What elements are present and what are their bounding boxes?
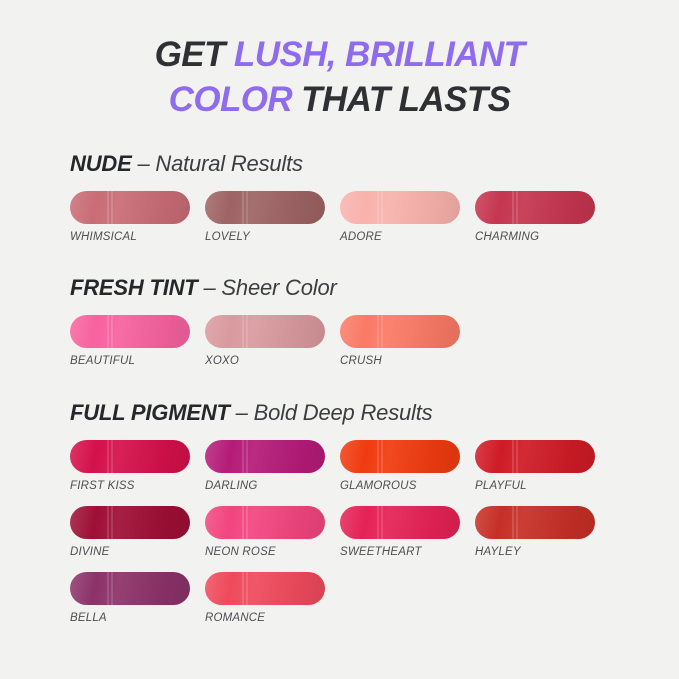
swatch-label: ROMANCE xyxy=(205,612,340,624)
headline-text-lush-brilliant: LUSH, BRILLIANT xyxy=(234,35,524,74)
swatch-item[interactable]: DARLING xyxy=(205,440,340,492)
swatch-label: DARLING xyxy=(205,480,340,492)
swatch-streak xyxy=(242,315,244,348)
swatch-color-crush[interactable] xyxy=(340,315,460,348)
swatch-label: WHIMSICAL xyxy=(70,231,205,243)
headline-text-get: GET xyxy=(155,35,234,74)
swatch-streak xyxy=(377,191,379,224)
swatch-sheen xyxy=(205,315,325,348)
swatch-streak xyxy=(111,191,113,224)
section-title-full-pigment: FULL PIGMENT – Bold Deep Results xyxy=(70,400,651,426)
swatch-color-charming[interactable] xyxy=(475,191,595,224)
swatch-item[interactable]: ADORE xyxy=(340,191,475,243)
swatch-label: CHARMING xyxy=(475,231,610,243)
swatch-sheen xyxy=(70,191,190,224)
swatch-label: DIVINE xyxy=(70,546,205,558)
swatch-streak xyxy=(242,191,244,224)
swatch-sheen xyxy=(70,440,190,473)
swatch-sheen xyxy=(205,506,325,539)
swatch-streak xyxy=(516,191,518,224)
swatch-label: BELLA xyxy=(70,612,205,624)
swatch-item[interactable]: LOVELY xyxy=(205,191,340,243)
swatch-streak xyxy=(377,440,379,473)
swatch-item[interactable]: BEAUTIFUL xyxy=(70,315,205,367)
section-fresh-tint: FRESH TINT – Sheer Color BEAUTIFUL XOXO … xyxy=(0,275,679,367)
section-title-light: – Bold Deep Results xyxy=(236,400,433,425)
swatch-color-whimsical[interactable] xyxy=(70,191,190,224)
swatch-sheen xyxy=(475,506,595,539)
section-full-pigment: FULL PIGMENT – Bold Deep Results FIRST K… xyxy=(0,400,679,624)
section-title-light: – Natural Results xyxy=(137,151,302,176)
swatch-sheen xyxy=(340,506,460,539)
swatch-grid-fresh-tint: BEAUTIFUL XOXO CRUSH xyxy=(70,301,615,367)
swatch-label: GLAMOROUS xyxy=(340,480,475,492)
swatch-item[interactable]: FIRST KISS xyxy=(70,440,205,492)
swatch-item[interactable]: GLAMOROUS xyxy=(340,440,475,492)
swatch-item[interactable]: CRUSH xyxy=(340,315,475,367)
swatch-color-lovely[interactable] xyxy=(205,191,325,224)
swatch-streak xyxy=(381,315,383,348)
swatch-sheen xyxy=(340,440,460,473)
swatch-color-bella[interactable] xyxy=(70,572,190,605)
swatch-streak xyxy=(516,440,518,473)
swatch-sheen xyxy=(205,440,325,473)
swatch-label: SWEETHEART xyxy=(340,546,475,558)
swatch-sheen xyxy=(475,440,595,473)
swatch-sheen xyxy=(475,191,595,224)
swatch-streak xyxy=(107,572,109,605)
swatch-streak xyxy=(246,191,248,224)
swatch-grid-full-pigment: FIRST KISS DARLING GLAMOROUS PLAYFUL DIV… xyxy=(70,426,615,624)
swatch-streak xyxy=(107,315,109,348)
swatch-streak xyxy=(242,440,244,473)
section-title-strong: FULL PIGMENT xyxy=(70,400,230,425)
swatch-grid-nude: WHIMSICAL LOVELY ADORE CHARMING xyxy=(70,177,615,243)
swatch-item[interactable]: WHIMSICAL xyxy=(70,191,205,243)
swatch-streak xyxy=(246,315,248,348)
swatch-label: LOVELY xyxy=(205,231,340,243)
swatch-color-divine[interactable] xyxy=(70,506,190,539)
swatch-item[interactable]: SWEETHEART xyxy=(340,506,475,558)
swatch-streak xyxy=(516,506,518,539)
swatch-item[interactable]: ROMANCE xyxy=(205,572,340,624)
swatch-color-xoxo[interactable] xyxy=(205,315,325,348)
swatch-streak xyxy=(512,506,514,539)
headline-line-1: GET LUSH, BRILLIANT xyxy=(0,33,679,78)
section-title-light: – Sheer Color xyxy=(203,275,336,300)
swatch-item[interactable]: CHARMING xyxy=(475,191,610,243)
swatch-label: ADORE xyxy=(340,231,475,243)
swatch-color-adore[interactable] xyxy=(340,191,460,224)
section-title-strong: NUDE xyxy=(70,151,132,176)
swatch-streak xyxy=(246,506,248,539)
swatch-color-hayley[interactable] xyxy=(475,506,595,539)
headline-line-2: COLOR THAT LASTS xyxy=(0,78,679,123)
swatch-streak xyxy=(512,191,514,224)
swatch-color-sweetheart[interactable] xyxy=(340,506,460,539)
swatch-streak xyxy=(246,572,248,605)
swatch-streak xyxy=(111,572,113,605)
section-title-fresh-tint: FRESH TINT – Sheer Color xyxy=(70,275,651,301)
section-nude: NUDE – Natural Results WHIMSICAL LOVELY … xyxy=(0,151,679,243)
swatch-label: XOXO xyxy=(205,355,340,367)
swatch-sheen xyxy=(70,315,190,348)
swatch-item[interactable]: HAYLEY xyxy=(475,506,610,558)
swatch-item[interactable]: PLAYFUL xyxy=(475,440,610,492)
swatch-sheen xyxy=(70,506,190,539)
swatch-streak xyxy=(242,506,244,539)
swatch-streak xyxy=(107,506,109,539)
swatch-streak xyxy=(381,191,383,224)
swatch-label: PLAYFUL xyxy=(475,480,610,492)
swatch-label: CRUSH xyxy=(340,355,475,367)
swatch-streak xyxy=(512,440,514,473)
swatch-streak xyxy=(377,315,379,348)
swatch-color-neon-rose[interactable] xyxy=(205,506,325,539)
headline-text-that-lasts: THAT LASTS xyxy=(301,80,510,119)
swatch-streak xyxy=(242,572,244,605)
swatch-streak xyxy=(107,191,109,224)
swatch-sheen xyxy=(340,191,460,224)
swatch-item[interactable]: XOXO xyxy=(205,315,340,367)
page-headline: GET LUSH, BRILLIANT COLOR THAT LASTS xyxy=(0,0,679,123)
swatch-streak xyxy=(381,506,383,539)
swatch-sheen xyxy=(340,315,460,348)
swatch-streak xyxy=(377,506,379,539)
swatch-color-beautiful[interactable] xyxy=(70,315,190,348)
swatch-streak xyxy=(111,506,113,539)
section-title-nude: NUDE – Natural Results xyxy=(70,151,651,177)
swatch-item[interactable]: DIVINE xyxy=(70,506,205,558)
swatch-label: NEON ROSE xyxy=(205,546,340,558)
section-title-strong: FRESH TINT xyxy=(70,275,198,300)
swatch-sheen xyxy=(205,191,325,224)
swatch-item[interactable]: NEON ROSE xyxy=(205,506,340,558)
swatch-color-darling[interactable] xyxy=(205,440,325,473)
swatch-streak xyxy=(111,440,113,473)
swatch-label: HAYLEY xyxy=(475,546,610,558)
swatch-color-first-kiss[interactable] xyxy=(70,440,190,473)
swatch-color-romance[interactable] xyxy=(205,572,325,605)
swatch-color-glamorous[interactable] xyxy=(340,440,460,473)
swatch-streak xyxy=(381,440,383,473)
swatch-streak xyxy=(107,440,109,473)
swatch-sheen xyxy=(70,572,190,605)
swatch-label: FIRST KISS xyxy=(70,480,205,492)
swatch-sheen xyxy=(205,572,325,605)
swatch-label: BEAUTIFUL xyxy=(70,355,205,367)
swatch-streak xyxy=(111,315,113,348)
lipstick-shade-chart: GET LUSH, BRILLIANT COLOR THAT LASTS NUD… xyxy=(0,0,679,679)
swatch-streak xyxy=(246,440,248,473)
swatch-item[interactable]: BELLA xyxy=(70,572,205,624)
headline-text-color: COLOR xyxy=(169,80,302,119)
swatch-color-playful[interactable] xyxy=(475,440,595,473)
